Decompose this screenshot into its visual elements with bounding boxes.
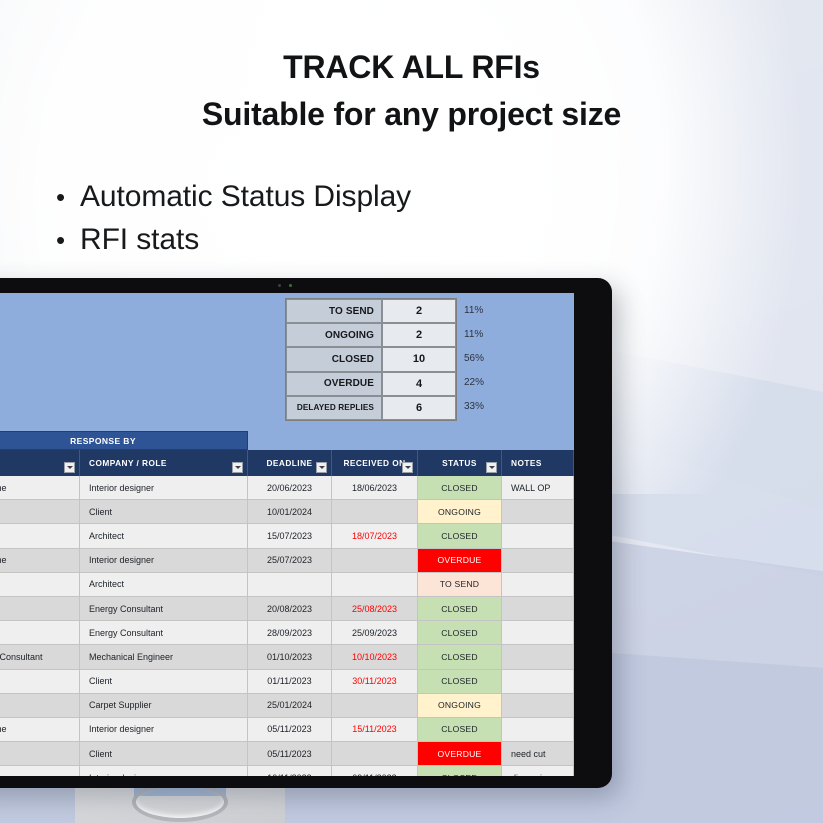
column-header-company-role[interactable]: COMPANY / ROLE: [80, 450, 248, 476]
stats-label: TO SEND: [286, 299, 382, 323]
filter-dropdown-icon[interactable]: [486, 462, 497, 473]
cell-notes[interactable]: [502, 621, 574, 645]
webcam-icon: [278, 284, 281, 287]
monitor-screen: TO SEND2ONGOING2CLOSED10OVERDUE4DELAYED …: [0, 293, 574, 776]
cell-notes[interactable]: need cut: [502, 742, 574, 766]
column-header-received-on[interactable]: RECEIVED ON: [332, 450, 418, 476]
stats-label: CLOSED: [286, 347, 382, 371]
table-header-row: COMPANY / ROLE DEADLINE RECEIVED ON STAT…: [0, 450, 574, 476]
list-item: • Automatic Status Display: [56, 176, 411, 219]
status-badge[interactable]: ONGOING: [418, 694, 502, 718]
stats-count: 2: [382, 299, 456, 323]
spreadsheet-canvas: TO SEND2ONGOING2CLOSED10OVERDUE4DELAYED …: [0, 293, 574, 776]
monitor-frame: TO SEND2ONGOING2CLOSED10OVERDUE4DELAYED …: [0, 278, 612, 788]
list-item: • RFI stats: [56, 219, 411, 262]
stats-percent: 56%: [461, 346, 521, 370]
cell-received-on[interactable]: 25/08/2023: [332, 597, 418, 621]
cell-deadline[interactable]: 25/07/2023: [248, 549, 332, 573]
cell-company-role[interactable]: Architect: [80, 524, 248, 548]
status-badge[interactable]: OVERDUE: [418, 549, 502, 573]
cell-notes[interactable]: [502, 573, 574, 597]
monitor-stand: [75, 788, 285, 823]
stats-row: OVERDUE4: [286, 372, 456, 396]
cell-received-on[interactable]: [332, 742, 418, 766]
cell-deadline[interactable]: 20/06/2023: [248, 476, 332, 500]
cell-response-by[interactable]: ner Name: [0, 476, 80, 500]
table-row[interactable]: ngineer ConsultantMechanical Engineer01/…: [0, 645, 574, 669]
rfi-stats-table: TO SEND2ONGOING2CLOSED10OVERDUE4DELAYED …: [285, 298, 457, 421]
cell-response-by[interactable]: [0, 500, 80, 524]
bullet-label: Automatic Status Display: [80, 176, 411, 219]
table-row[interactable]: ner NameInterior designer05/11/202315/11…: [0, 718, 574, 742]
cell-deadline[interactable]: 05/11/2023: [248, 718, 332, 742]
cell-received-on[interactable]: 09/11/2023: [332, 766, 418, 776]
cell-received-on[interactable]: 18/06/2023: [332, 476, 418, 500]
cell-response-by[interactable]: Name: [0, 597, 80, 621]
cell-notes[interactable]: [502, 670, 574, 694]
monitor-bezel-top: [0, 278, 612, 293]
cell-received-on[interactable]: 30/11/2023: [332, 670, 418, 694]
cell-received-on[interactable]: 25/09/2023: [332, 621, 418, 645]
cell-company-role[interactable]: Client: [80, 742, 248, 766]
stats-percent: 22%: [461, 371, 521, 395]
sheet-blue-filler: [248, 431, 574, 450]
table-row[interactable]: ner NameInterior designer25/07/2023OVERD…: [0, 549, 574, 573]
cell-notes[interactable]: WALL OP: [502, 476, 574, 500]
stats-row: CLOSED10: [286, 347, 456, 371]
cell-received-on[interactable]: [332, 549, 418, 573]
status-badge[interactable]: CLOSED: [418, 670, 502, 694]
table-row[interactable]: meArchitectTO SEND: [0, 573, 574, 597]
cell-response-by[interactable]: ner Name: [0, 549, 80, 573]
headline-block: TRACK ALL RFIs Suitable for any project …: [0, 44, 823, 139]
cell-notes[interactable]: [502, 645, 574, 669]
rfi-table: COMPANY / ROLE DEADLINE RECEIVED ON STAT…: [0, 450, 574, 776]
cell-notes[interactable]: [502, 694, 574, 718]
cell-deadline[interactable]: 01/11/2023: [248, 670, 332, 694]
status-badge[interactable]: CLOSED: [418, 621, 502, 645]
stats-row: TO SEND2: [286, 299, 456, 323]
stats-percent: 11%: [461, 298, 521, 322]
cell-company-role[interactable]: Client: [80, 670, 248, 694]
cell-notes[interactable]: [502, 549, 574, 573]
column-header-deadline-label: DEADLINE: [266, 458, 312, 468]
cell-response-by[interactable]: me: [0, 524, 80, 548]
cell-response-by[interactable]: [0, 742, 80, 766]
cell-deadline[interactable]: 20/08/2023: [248, 597, 332, 621]
bullet-dot-icon: •: [56, 184, 80, 210]
stats-row: DELAYED REPLIES6: [286, 396, 456, 420]
cell-company-role[interactable]: Interior designer: [80, 476, 248, 500]
cell-response-by[interactable]: ngineer Consultant: [0, 645, 80, 669]
cell-deadline[interactable]: 10/11/2023: [248, 766, 332, 776]
column-header-deadline[interactable]: DEADLINE: [248, 450, 332, 476]
table-row[interactable]: ner NameInterior designer20/06/202318/06…: [0, 476, 574, 500]
stats-count: 2: [382, 323, 456, 347]
stats-count: 10: [382, 347, 456, 371]
status-badge[interactable]: CLOSED: [418, 645, 502, 669]
table-row[interactable]: Client10/01/2024ONGOING: [0, 500, 574, 524]
status-badge[interactable]: CLOSED: [418, 597, 502, 621]
status-badge[interactable]: CLOSED: [418, 476, 502, 500]
cell-notes[interactable]: dimensi: [502, 766, 574, 776]
cell-response-by[interactable]: [0, 670, 80, 694]
cell-company-role[interactable]: Interior designer: [80, 549, 248, 573]
headline-line-2: Suitable for any project size: [0, 91, 823, 138]
cell-company-role[interactable]: Interior designer: [80, 766, 248, 776]
table-row[interactable]: NameEnergy Consultant20/08/202325/08/202…: [0, 597, 574, 621]
status-badge[interactable]: CLOSED: [418, 718, 502, 742]
cell-response-by[interactable]: ner Name: [0, 718, 80, 742]
column-header-status[interactable]: STATUS: [418, 450, 502, 476]
stats-label: ONGOING: [286, 323, 382, 347]
cell-deadline[interactable]: 05/11/2023: [248, 742, 332, 766]
column-header-received-on-label: RECEIVED ON: [343, 458, 405, 468]
table-row[interactable]: Client05/11/2023OVERDUEneed cut: [0, 742, 574, 766]
headline-line-1: TRACK ALL RFIs: [0, 44, 823, 91]
group-header-response-by: RESPONSE BY: [0, 431, 248, 450]
cell-received-on[interactable]: [332, 500, 418, 524]
table-row[interactable]: ner NameInterior designer10/11/202309/11…: [0, 766, 574, 776]
cell-company-role[interactable]: Interior designer: [80, 718, 248, 742]
cell-received-on[interactable]: 10/10/2023: [332, 645, 418, 669]
filter-dropdown-icon[interactable]: [232, 462, 243, 473]
column-header-status-label: STATUS: [442, 458, 477, 468]
cell-company-role[interactable]: Energy Consultant: [80, 597, 248, 621]
table-row[interactable]: NameEnergy Consultant28/09/202325/09/202…: [0, 621, 574, 645]
cell-notes[interactable]: [502, 597, 574, 621]
stats-row: ONGOING2: [286, 323, 456, 347]
cell-notes[interactable]: [502, 500, 574, 524]
filter-dropdown-icon[interactable]: [64, 462, 75, 473]
status-badge[interactable]: CLOSED: [418, 524, 502, 548]
column-header-notes[interactable]: NOTES: [502, 450, 574, 476]
cell-notes[interactable]: [502, 524, 574, 548]
cell-response-by[interactable]: me: [0, 694, 80, 718]
webcam-led-icon: [289, 284, 292, 287]
cell-deadline[interactable]: 28/09/2023: [248, 621, 332, 645]
cell-company-role[interactable]: Architect: [80, 573, 248, 597]
cell-company-role[interactable]: Carpet Supplier: [80, 694, 248, 718]
rfi-stats-percent-column: 11%11%56%22%33%: [461, 298, 521, 419]
cell-company-role[interactable]: Mechanical Engineer: [80, 645, 248, 669]
status-badge[interactable]: ONGOING: [418, 500, 502, 524]
cell-response-by[interactable]: me: [0, 573, 80, 597]
stats-label: OVERDUE: [286, 372, 382, 396]
cell-notes[interactable]: [502, 718, 574, 742]
cell-received-on[interactable]: [332, 573, 418, 597]
status-badge[interactable]: TO SEND: [418, 573, 502, 597]
cell-received-on[interactable]: [332, 694, 418, 718]
status-badge[interactable]: CLOSED: [418, 766, 502, 776]
stats-count: 4: [382, 372, 456, 396]
stats-percent: 33%: [461, 395, 521, 419]
table-row[interactable]: Client01/11/202330/11/2023CLOSED: [0, 670, 574, 694]
column-header-notes-label: NOTES: [511, 458, 542, 468]
cell-deadline[interactable]: [248, 573, 332, 597]
cell-deadline[interactable]: 25/01/2024: [248, 694, 332, 718]
bullet-label: RFI stats: [80, 219, 199, 262]
cell-received-on[interactable]: 15/11/2023: [332, 718, 418, 742]
cell-deadline[interactable]: 01/10/2023: [248, 645, 332, 669]
table-row[interactable]: meCarpet Supplier25/01/2024ONGOING: [0, 694, 574, 718]
cell-deadline[interactable]: 15/07/2023: [248, 524, 332, 548]
cell-company-role[interactable]: Energy Consultant: [80, 621, 248, 645]
filter-dropdown-icon[interactable]: [316, 462, 327, 473]
cell-company-role[interactable]: Client: [80, 500, 248, 524]
cell-response-by[interactable]: ner Name: [0, 766, 80, 776]
cell-deadline[interactable]: 10/01/2024: [248, 500, 332, 524]
stats-count: 6: [382, 396, 456, 420]
column-header-response-by[interactable]: [0, 450, 80, 476]
feature-bullet-list: • Automatic Status Display • RFI stats: [56, 176, 411, 261]
cell-response-by[interactable]: Name: [0, 621, 80, 645]
filter-dropdown-icon[interactable]: [402, 462, 413, 473]
column-header-company-role-label: COMPANY / ROLE: [89, 458, 167, 468]
bullet-dot-icon: •: [56, 227, 80, 253]
table-row[interactable]: meArchitect15/07/202318/07/2023CLOSED: [0, 524, 574, 548]
monitor-stand-neck: [132, 782, 228, 822]
stats-label: DELAYED REPLIES: [286, 396, 382, 420]
status-badge[interactable]: OVERDUE: [418, 742, 502, 766]
stats-percent: 11%: [461, 322, 521, 346]
cell-received-on[interactable]: 18/07/2023: [332, 524, 418, 548]
